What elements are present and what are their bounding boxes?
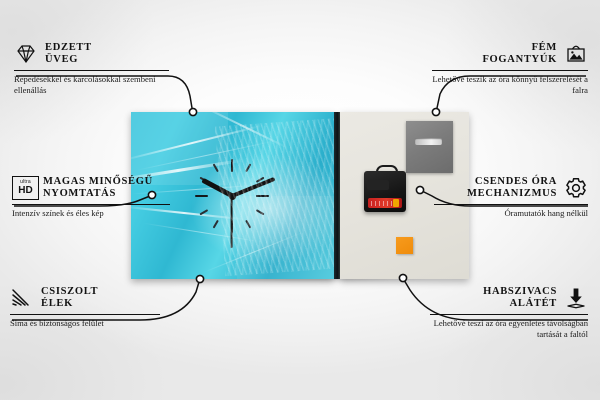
callout-title-line1: HABSZIVACS xyxy=(483,286,557,298)
clock-center-hub xyxy=(229,193,236,200)
callout-description: Lehetővé teszi az óra egyenletes távolsá… xyxy=(430,318,588,339)
callout-polished-edges[interactable]: CSISZOLT ÉLEK Sima és biztonságos felüle… xyxy=(10,286,160,329)
callout-description: Sima és biztonságos felület xyxy=(10,318,160,329)
callout-title-line1: MAGAS MINŐSÉGŰ xyxy=(43,176,153,188)
foam-spacer-pad xyxy=(396,237,413,254)
callout-title-line1: EDZETT xyxy=(45,42,92,54)
diamond-icon xyxy=(14,42,38,66)
clock-mechanism xyxy=(364,171,406,212)
callout-title-line2: ALÁTÉT xyxy=(483,298,557,310)
hour-marker xyxy=(231,159,233,233)
callout-description: Lehetővé teszik az óra könnyű felszerelé… xyxy=(432,74,588,95)
callout-foam-pad[interactable]: HABSZIVACS ALÁTÉT Lehetővé teszi az óra … xyxy=(430,286,588,340)
callout-description: Intenzív színek és éles kép xyxy=(12,208,170,219)
callout-rule xyxy=(12,204,170,205)
callout-high-quality-print[interactable]: ultra HD MAGAS MINŐSÉGŰ NYOMTATÁS Intenz… xyxy=(12,176,170,219)
hour-marker xyxy=(231,159,233,233)
picture-hanger-icon xyxy=(564,42,588,66)
callout-title-line1: FÉM xyxy=(482,42,557,54)
callout-description: Óramutatók hang nélkül xyxy=(434,208,588,219)
callout-rule xyxy=(432,70,588,71)
hour-marker xyxy=(195,195,269,197)
foam-pad-arrow-icon xyxy=(564,286,588,310)
metal-hanger-plate xyxy=(406,121,453,173)
callout-title-line1: CSENDES ÓRA xyxy=(467,176,557,188)
callout-title-line2: NYOMTATÁS xyxy=(43,188,153,200)
ultra-hd-icon: ultra HD xyxy=(12,176,36,200)
callout-rule xyxy=(430,314,588,315)
infographic-canvas: EDZETT ÜVEG Repedésekkel és karcolásokka… xyxy=(0,0,600,400)
ultra-hd-icon-bottom: HD xyxy=(18,186,32,196)
minute-hand xyxy=(231,177,275,198)
callout-metal-handles[interactable]: FÉM FOGANTYÚK Lehetővé teszik az óra kön… xyxy=(432,42,588,96)
callout-rule xyxy=(10,314,160,315)
callout-tempered-glass[interactable]: EDZETT ÜVEG Repedésekkel és karcolásokka… xyxy=(14,42,169,96)
callout-silent-mechanism[interactable]: CSENDES ÓRA MECHANIZMUS Óramutatók hang … xyxy=(434,176,588,219)
polished-edge-lines-icon xyxy=(10,286,34,310)
second-hand xyxy=(231,196,233,248)
callout-description: Repedésekkel és karcolásokkal szembeni e… xyxy=(14,74,169,95)
product-image xyxy=(131,112,469,279)
callout-title-line2: FOGANTYÚK xyxy=(482,54,557,66)
gear-icon xyxy=(564,176,588,200)
callout-title-line2: ÜVEG xyxy=(45,54,92,66)
callout-title-line2: ÉLEK xyxy=(41,298,98,310)
callout-title-line2: MECHANIZMUS xyxy=(467,188,557,200)
callout-rule xyxy=(434,204,588,205)
callout-rule xyxy=(14,70,169,71)
callout-title-line1: CSISZOLT xyxy=(41,286,98,298)
